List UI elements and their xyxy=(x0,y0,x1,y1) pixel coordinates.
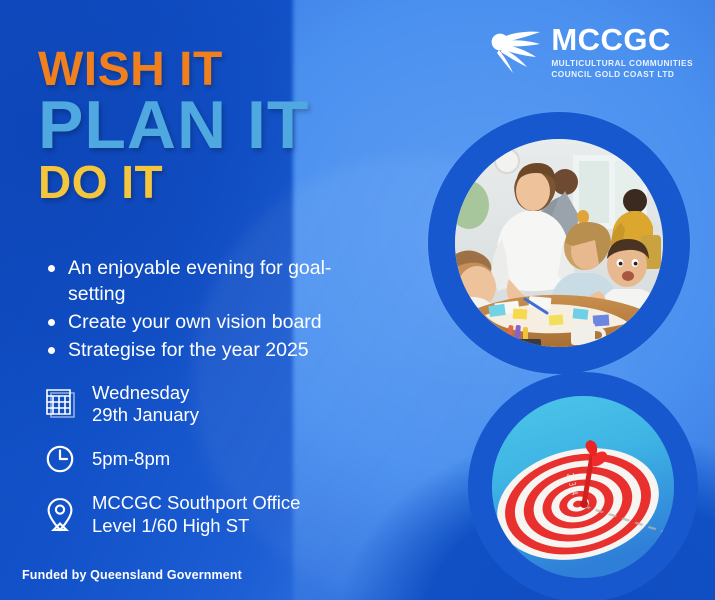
promotional-flyer: MCCGC MULTICULTURAL COMMUNITIES COUNCIL … xyxy=(0,0,715,600)
brand-name: MCCGC xyxy=(551,24,693,55)
detail-row-location: MCCGC Southport Office Level 1/60 High S… xyxy=(44,492,300,536)
detail-row-date: Wednesday 29th January xyxy=(44,382,300,426)
brand-logo: MCCGC MULTICULTURAL COMMUNITIES COUNCIL … xyxy=(488,24,693,80)
headline-line-do: DO IT xyxy=(38,161,309,203)
calendar-icon xyxy=(44,385,78,423)
list-item: Create your own vision board xyxy=(40,310,370,336)
detail-text-time: 5pm-8pm xyxy=(92,448,170,470)
dart-target-illustration: 1 2 3 4 xyxy=(492,396,674,578)
list-item: Strategise for the year 2025 xyxy=(40,338,370,364)
brand-subtitle: MULTICULTURAL COMMUNITIES COUNCIL GOLD C… xyxy=(551,58,693,80)
funding-credit: Funded by Queensland Government xyxy=(22,568,242,582)
feature-bullet-list: An enjoyable evening for goal-setting Cr… xyxy=(40,256,370,366)
event-details: Wednesday 29th January 5pm-8pm MCCGC Sou… xyxy=(44,382,300,537)
headline-line-wish: WISH IT xyxy=(38,48,309,92)
clock-icon xyxy=(44,440,78,478)
detail-text-date: Wednesday 29th January xyxy=(92,382,199,426)
detail-text-location: MCCGC Southport Office Level 1/60 High S… xyxy=(92,492,300,536)
headline-block: WISH IT PLAN IT DO IT xyxy=(38,48,309,203)
target-photo: 1 2 3 4 xyxy=(492,396,674,578)
list-item: An enjoyable evening for goal-setting xyxy=(40,256,370,308)
workshop-photo-illustration xyxy=(455,139,663,347)
detail-row-time: 5pm-8pm xyxy=(44,440,300,478)
fan-burst-icon xyxy=(488,29,542,75)
location-pin-icon xyxy=(44,496,78,534)
workshop-photo xyxy=(455,139,663,347)
headline-line-plan: PLAN IT xyxy=(38,94,309,157)
